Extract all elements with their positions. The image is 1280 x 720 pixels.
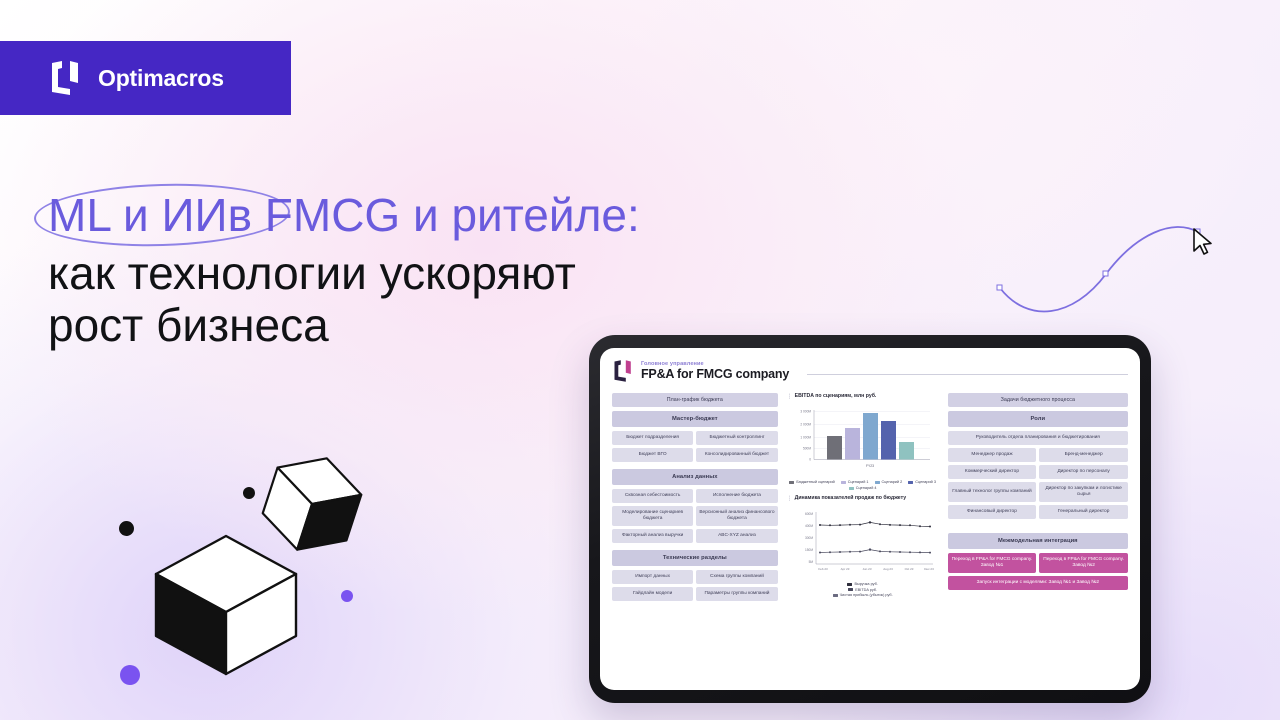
page-title: ML и ИИ в FMCG и ритейле: как технологии… — [48, 186, 878, 348]
tile-item[interactable]: Импорт данных — [612, 570, 693, 584]
y-tick: 1 000M — [800, 436, 811, 440]
tile-item[interactable]: Гайдлайн модели — [612, 587, 693, 601]
x-tick: Oct 23 — [904, 567, 913, 571]
brand-name: Optimacros — [98, 65, 224, 92]
tile-item[interactable]: Запуск интеграции с моделями: Завод №1 и… — [948, 576, 1128, 590]
chart-header: ⋮ Динамика показателей продаж по бюджету — [787, 495, 939, 502]
tile-item[interactable]: Финансовый директор — [948, 505, 1037, 519]
tile-grid: Переход в FP&A for FMCG company. Завод №… — [948, 553, 1128, 590]
tile-item[interactable]: Консолидированный бюджет — [696, 448, 777, 462]
tile-item[interactable]: Факторный анализ выручки — [612, 529, 693, 543]
sales-dynamics-line-chart: ⋮ Динамика показателей продаж по бюджету… — [787, 495, 939, 597]
x-tick: Jun 23 — [862, 567, 871, 571]
legend-item: Сценарий 4 — [849, 486, 877, 490]
group-roles: Роли Руководитель отдела планирования и … — [948, 411, 1128, 519]
chart-plot: 3 000M 2 000M 1 000M 500M 0 — [787, 403, 939, 477]
headline-accent: ML и ИИ — [48, 192, 228, 238]
y-tick: 600M — [805, 512, 813, 516]
optimacros-bracket-logo-icon — [48, 59, 82, 97]
tile-grid: Руководитель отдела планирования и бюдже… — [948, 431, 1128, 519]
tile-item[interactable]: Переход в FP&A for FMCG company. Завод №… — [1039, 553, 1128, 573]
chart-legend: Бюджетный сценарий Сценарий 1 Сценарий 2… — [787, 480, 939, 490]
optimacros-bracket-logo-icon — [612, 359, 633, 383]
group-data-analysis: Анализ данных Сквозная себестоимость Исп… — [612, 469, 778, 543]
group-header: Анализ данных — [612, 469, 778, 485]
legend-item: EBITDA руб. — [848, 588, 877, 592]
x-tick: Apr 23 — [840, 567, 849, 571]
y-tick: 5M — [808, 560, 813, 564]
group-header: Мастер-бюджет — [612, 411, 778, 427]
dot-black-small — [119, 521, 134, 536]
tile-item[interactable]: Главный технолог группы компаний — [948, 482, 1037, 502]
brand-badge: Optimacros — [0, 41, 291, 115]
tile-item[interactable]: Руководитель отдела планирования и бюдже… — [948, 431, 1128, 445]
dot-black-tiny — [243, 487, 255, 499]
mouse-cursor-icon — [1192, 228, 1214, 258]
x-tick: Dec 23 — [924, 567, 934, 571]
tile-grid: Сквозная себестоимость Исполнение бюджет… — [612, 489, 778, 543]
y-tick: 150M — [805, 548, 813, 552]
tile-grid: Импорт данных Схема группы компаний Гайд… — [612, 570, 778, 601]
tile-item[interactable]: Бюджетный контроллинг — [696, 431, 777, 445]
dashboard-columns: План-график бюджета Мастер-бюджет Бюджет… — [612, 389, 1128, 608]
tile-grid: Бюджет подразделения Бюджетный контролли… — [612, 431, 778, 462]
tile-item[interactable]: Коммерческий директор — [948, 465, 1037, 479]
group-header: Роли — [948, 411, 1128, 427]
group-technical-sections: Технические разделы Импорт данных Схема … — [612, 550, 778, 601]
isometric-cube-large-icon — [150, 530, 302, 680]
x-axis-label: FY23 — [866, 464, 874, 468]
x-tick: Aug 23 — [883, 567, 893, 571]
left-column: План-график бюджета Мастер-бюджет Бюджет… — [612, 393, 778, 608]
x-tick: Feb 23 — [818, 567, 828, 571]
header-divider — [807, 374, 1128, 375]
tile-item[interactable]: ABC-XYZ анализ — [696, 529, 777, 543]
dashboard: Головное управление FP&A for FMCG compan… — [600, 348, 1140, 690]
group-master-budget: Мастер-бюджет Бюджет подразделения Бюдже… — [612, 411, 778, 462]
chart-header: ⋮ EBITDA по сценариям, млн руб. — [787, 393, 939, 400]
right-column: Задачи бюджетного процесса Роли Руководи… — [948, 393, 1128, 608]
y-tick: 2 000M — [800, 423, 811, 427]
dashboard-title: FP&A for FMCG company — [641, 367, 789, 381]
tile-item[interactable]: Параметры группы компаний — [696, 587, 777, 601]
legend-item: Сценарий 2 — [875, 480, 903, 484]
chart-title: Динамика показателей продаж по бюджету — [795, 495, 907, 501]
legend-item: Бюджетный сценарий — [789, 480, 834, 484]
band-budget-schedule[interactable]: План-график бюджета — [612, 393, 778, 407]
middle-column: ⋮ EBITDA по сценариям, млн руб. 3 000M 2… — [787, 393, 939, 608]
group-header: Технические разделы — [612, 550, 778, 566]
ebitda-bar-chart: ⋮ EBITDA по сценариям, млн руб. 3 000M 2… — [787, 393, 939, 490]
tile-item[interactable]: Переход в FP&A for FMCG company. Завод №… — [948, 553, 1037, 573]
tile-item[interactable]: Директор по закупкам и логистике сырья — [1039, 482, 1128, 502]
tile-item[interactable]: Сквозная себестоимость — [612, 489, 693, 503]
tile-item[interactable]: Менеджер продаж — [948, 448, 1037, 462]
drag-handle-icon[interactable]: ⋮ — [787, 394, 792, 400]
bezier-curve-decoration-icon — [988, 196, 1238, 326]
tile-item[interactable]: Генеральный директор — [1039, 505, 1128, 519]
y-tick: 3 000M — [800, 410, 811, 414]
tile-item[interactable]: Моделирование сценариев бюджета — [612, 506, 693, 526]
band-budget-process-tasks[interactable]: Задачи бюджетного процесса — [948, 393, 1128, 407]
chart-plot: 600M 400M 300M 150M 5M — [787, 505, 939, 579]
group-intermodel-integration: Межмодельная интеграция Переход в FP&A f… — [948, 533, 1128, 590]
y-tick: 300M — [805, 536, 813, 540]
headline-line2: как технологии ускоряют — [48, 250, 878, 296]
legend-item: Чистая прибыль (убыток) руб. — [833, 593, 893, 597]
drag-handle-icon[interactable]: ⋮ — [787, 496, 792, 502]
y-tick: 500M — [803, 447, 811, 451]
chart-title: EBITDA по сценариям, млн руб. — [795, 393, 877, 399]
dashboard-header: Головное управление FP&A for FMCG compan… — [612, 359, 1128, 389]
legend-item: Сценарий 1 — [841, 480, 869, 484]
group-header: Межмодельная интеграция — [948, 533, 1128, 549]
headline-line1-rest: в FMCG и ритейле: — [228, 192, 640, 238]
legend-item: Выручка руб. — [847, 582, 877, 586]
chart-legend: Выручка руб. EBITDA руб. Чистая прибыль … — [787, 582, 939, 597]
tile-item[interactable]: Исполнение бюджета — [696, 489, 777, 503]
tile-item[interactable]: Директор по персоналу — [1039, 465, 1128, 479]
tablet-screen: Головное управление FP&A for FMCG compan… — [600, 348, 1140, 690]
dot-purple-large — [120, 665, 140, 685]
tile-item[interactable]: Бюджет подразделения — [612, 431, 693, 445]
dashboard-titles: Головное управление FP&A for FMCG compan… — [641, 361, 789, 382]
dot-purple-small — [341, 590, 353, 602]
tile-item[interactable]: Бренд-менеджер — [1039, 448, 1128, 462]
legend-item: Сценарий 3 — [908, 480, 936, 484]
tile-item[interactable]: Бюджет ВГО — [612, 448, 693, 462]
tile-item[interactable]: Версионный анализ финансового бюджета — [696, 506, 777, 526]
y-tick: 400M — [805, 524, 813, 528]
tile-item[interactable]: Схема группы компаний — [696, 570, 777, 584]
tablet-device: Головное управление FP&A for FMCG compan… — [589, 335, 1151, 703]
y-tick: 0 — [809, 458, 811, 462]
